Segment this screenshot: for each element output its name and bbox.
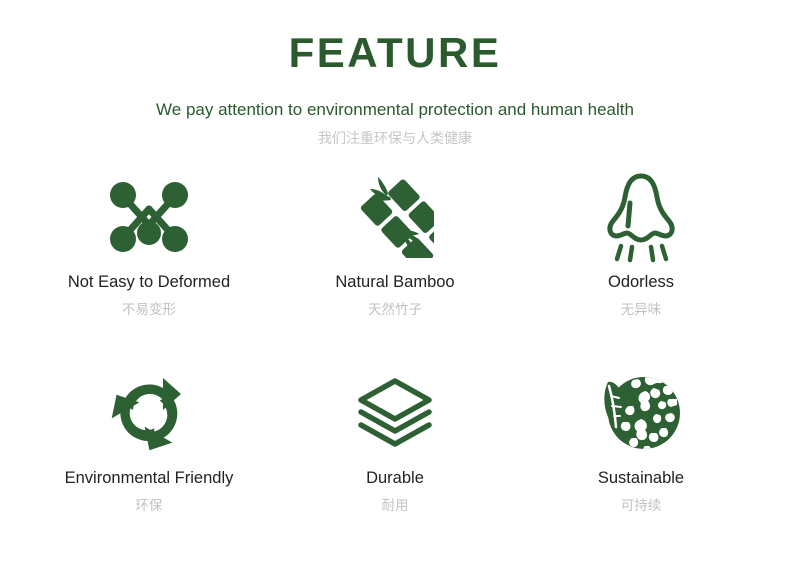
feature-item-natural-bamboo: Natural Bamboo 天然竹子 — [272, 169, 518, 365]
page-title: FEATURE — [0, 32, 790, 74]
feature-label-chinese: 可持续 — [621, 498, 662, 514]
section-header: FEATURE We pay attention to environmenta… — [0, 0, 790, 147]
feature-section: FEATURE We pay attention to environmenta… — [0, 0, 790, 576]
feature-label-english: Environmental Friendly — [65, 469, 234, 489]
feature-label-chinese: 不易变形 — [122, 302, 176, 318]
feature-label-chinese: 耐用 — [382, 498, 409, 514]
feature-grid: Not Easy to Deformed 不易变形 — [0, 169, 790, 561]
molecule-icon — [108, 169, 190, 265]
feature-label-chinese: 无异味 — [621, 302, 662, 318]
layers-icon — [355, 365, 435, 461]
subtitle-chinese: 我们注重环保与人类健康 — [0, 130, 790, 147]
recycle-icon — [107, 365, 191, 461]
bamboo-icon — [356, 169, 434, 265]
feature-item-not-easy-to-deformed: Not Easy to Deformed 不易变形 — [26, 169, 272, 365]
nose-icon — [603, 169, 679, 265]
feature-item-environmental-friendly: Environmental Friendly 环保 — [26, 365, 272, 561]
feature-label-english: Sustainable — [598, 469, 684, 489]
feature-label-english: Odorless — [608, 273, 674, 293]
feature-label-english: Not Easy to Deformed — [68, 273, 230, 293]
feature-item-odorless: Odorless 无异味 — [518, 169, 764, 365]
globe-leaf-icon — [599, 365, 683, 461]
feature-label-chinese: 天然竹子 — [368, 302, 422, 318]
feature-label-english: Natural Bamboo — [335, 273, 454, 293]
feature-item-sustainable: Sustainable 可持续 — [518, 365, 764, 561]
feature-item-durable: Durable 耐用 — [272, 365, 518, 561]
feature-label-chinese: 环保 — [136, 498, 163, 514]
feature-label-english: Durable — [366, 469, 424, 489]
subtitle-english: We pay attention to environmental protec… — [0, 100, 790, 120]
